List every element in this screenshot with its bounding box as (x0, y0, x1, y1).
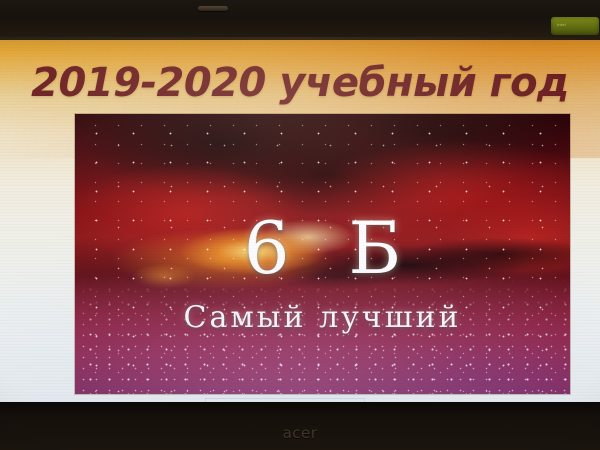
laptop-bottom-bezel: acer (0, 402, 600, 450)
webcam-slit-icon (198, 6, 228, 11)
class-name-heading: 6 Б (75, 212, 570, 284)
slide-title: 2019-2020 учебный год (0, 60, 600, 106)
spec-sticker: Intel (551, 17, 599, 35)
spec-sticker-label: Intel (557, 22, 566, 27)
laptop-screen: 2019-2020 учебный год 6 Б Самый лучший (0, 38, 600, 404)
laptop-photo: 2019-2020 учебный год 6 Б Самый лучший I… (0, 0, 600, 450)
laptop-top-bezel (0, 0, 600, 40)
slide-picture: 6 Б Самый лучший (75, 114, 570, 394)
class-tagline: Самый лучший (75, 302, 570, 334)
acer-brand-logo: acer (0, 424, 600, 442)
